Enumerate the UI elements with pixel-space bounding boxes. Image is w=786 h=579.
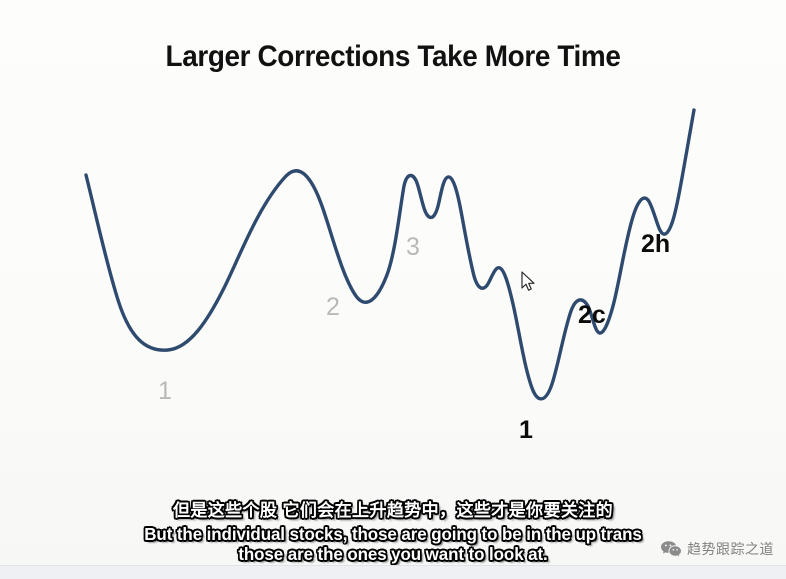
wave-label-3-gray: 3 — [406, 235, 420, 260]
price-wave-line — [86, 110, 694, 399]
wave-label-2h: 2h — [641, 232, 670, 257]
wave-label-2c: 2c — [578, 303, 606, 328]
wave-label-2-gray: 2 — [326, 295, 340, 320]
wave-label-1-dark: 1 — [519, 418, 533, 443]
wechat-icon — [660, 540, 682, 559]
presentation-video-frame: Larger Corrections Take More Time 1 2 3 … — [0, 0, 786, 579]
channel-watermark: 趋势跟踪之道 — [660, 539, 774, 559]
price-wave-chart — [0, 0, 786, 579]
wave-label-1-gray: 1 — [158, 379, 172, 404]
subtitle-line-chinese: 但是这些个股 它们会在上升趋势中，这些才是你要关注的 — [0, 501, 786, 521]
watermark-text: 趋势跟踪之道 — [687, 539, 774, 559]
player-bottom-bar — [0, 565, 786, 579]
